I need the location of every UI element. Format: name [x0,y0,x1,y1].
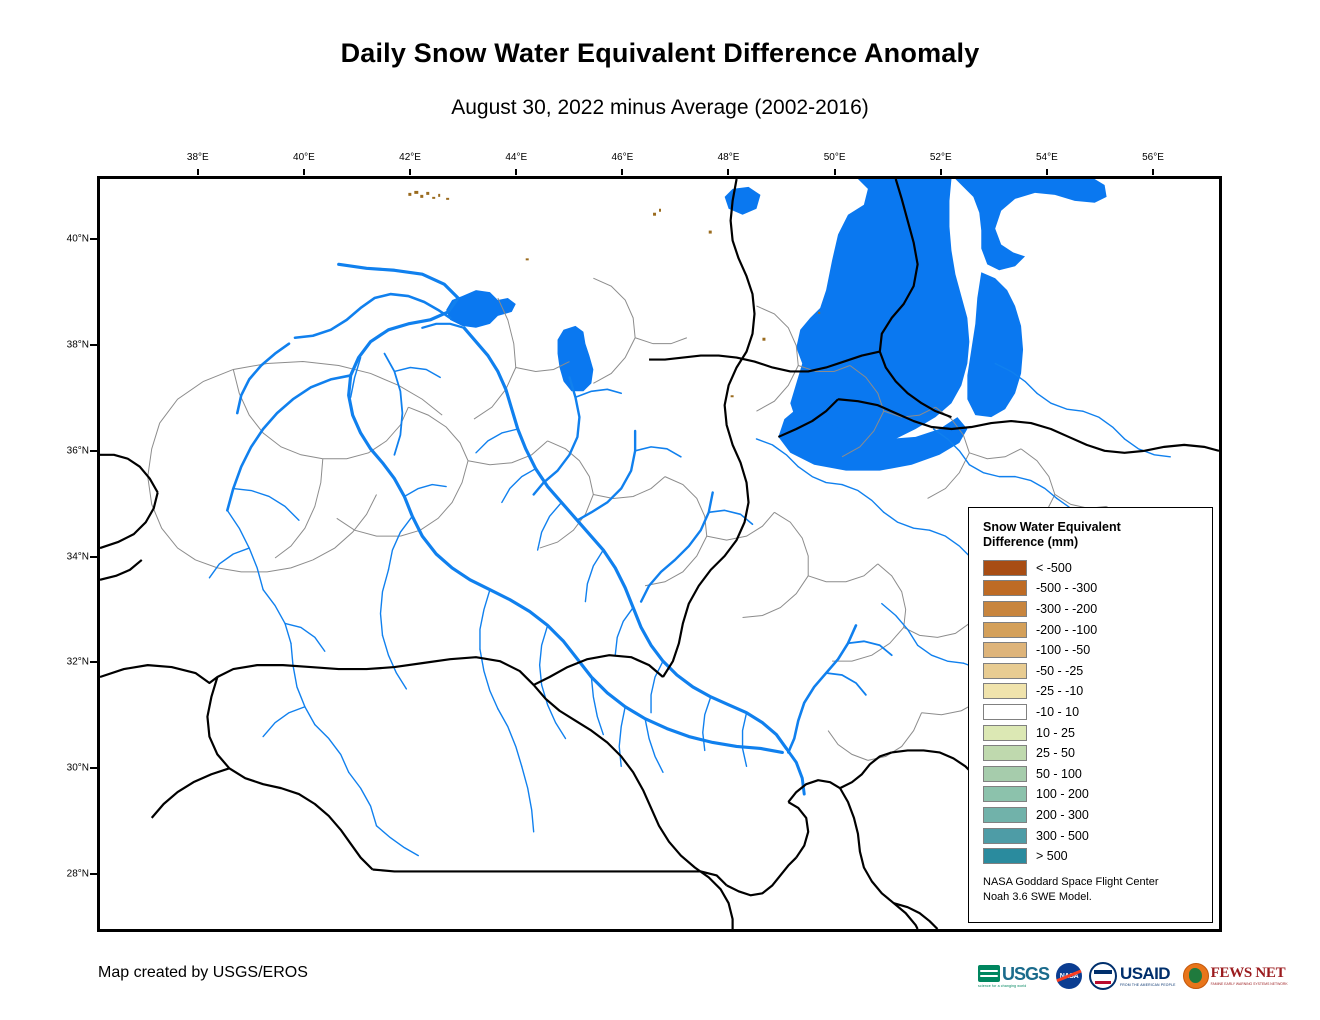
longitude-tick [197,169,199,175]
longitude-label: 46°E [611,152,633,163]
legend-entry-label: -25 - -10 [1036,684,1083,698]
legend-entry-label: -100 - -50 [1036,643,1090,657]
legend-title-line1: Snow Water Equivalent [983,520,1202,535]
nasa-meatball-icon: NASA [1056,963,1082,989]
latitude-tick [90,661,97,663]
latitude-label: 32°N [45,657,89,668]
usaid-tagline: FROM THE AMERICAN PEOPLE [1120,983,1176,987]
legend-color-swatch [983,642,1027,658]
legend-entry-label: 300 - 500 [1036,829,1089,843]
longitude-label: 40°E [293,152,315,163]
longitude-label: 52°E [930,152,952,163]
usgs-tagline: science for a changing world [978,984,1049,988]
legend-entry-label: -50 - -25 [1036,664,1083,678]
longitude-tick [834,169,836,175]
map-legend: Snow Water Equivalent Difference (mm) < … [968,507,1213,923]
longitude-label: 56°E [1142,152,1164,163]
legend-credit: NASA Goddard Space Flight Center Noah 3.… [983,875,1202,904]
legend-entry: 300 - 500 [983,825,1202,846]
legend-entry-label: 200 - 300 [1036,808,1089,822]
longitude-label: 44°E [505,152,527,163]
legend-entry: 200 - 300 [983,805,1202,826]
legend-color-swatch [983,560,1027,576]
usaid-logo[interactable]: USAID FROM THE AMERICAN PEOPLE [1089,959,1176,993]
legend-color-swatch [983,725,1027,741]
legend-entry: -25 - -10 [983,681,1202,702]
legend-color-swatch [983,704,1027,720]
latitude-tick [90,556,97,558]
latitude-label: 28°N [45,868,89,879]
legend-title: Snow Water Equivalent Difference (mm) [983,520,1202,551]
legend-entry-list: < -500-500 - -300-300 - -200-200 - -100-… [983,558,1202,867]
fews-globe-icon [1183,963,1209,989]
longitude-label: 54°E [1036,152,1058,163]
legend-entry: -300 - -200 [983,599,1202,620]
legend-title-line2: Difference (mm) [983,535,1202,550]
longitude-tick [727,169,729,175]
longitude-tick [303,169,305,175]
legend-color-swatch [983,622,1027,638]
legend-entry: 10 - 25 [983,722,1202,743]
legend-color-swatch [983,663,1027,679]
legend-entry: 100 - 200 [983,784,1202,805]
latitude-tick [90,450,97,452]
legend-entry-label: -300 - -200 [1036,602,1097,616]
nasa-logo-text: NASA [1056,963,1082,989]
legend-entry-label: -10 - 10 [1036,705,1079,719]
legend-entry: -50 - -25 [983,660,1202,681]
latitude-tick [90,344,97,346]
legend-entry-label: 100 - 200 [1036,787,1089,801]
longitude-label: 38°E [187,152,209,163]
usaid-logo-text: USAID [1120,965,1176,982]
nasa-logo[interactable]: NASA [1056,959,1082,993]
longitude-tick [1152,169,1154,175]
usaid-seal-icon [1089,962,1117,990]
legend-entry: -10 - 10 [983,702,1202,723]
legend-entry: < -500 [983,558,1202,579]
legend-color-swatch [983,683,1027,699]
latitude-label: 30°N [45,763,89,774]
legend-color-swatch [983,828,1027,844]
latitude-tick [90,767,97,769]
longitude-tick [621,169,623,175]
longitude-tick [1046,169,1048,175]
legend-entry: -200 - -100 [983,619,1202,640]
legend-entry-label: > 500 [1036,849,1068,863]
legend-entry: -500 - -300 [983,578,1202,599]
longitude-label: 42°E [399,152,421,163]
latitude-label: 38°N [45,340,89,351]
legend-credit-line1: NASA Goddard Space Flight Center [983,875,1202,889]
longitude-tick [515,169,517,175]
caspian-sea-waterbody [725,179,1107,471]
lake-urmia-waterbody [558,326,594,391]
latitude-tick [90,238,97,240]
usgs-wave-icon [978,965,1000,982]
longitude-tick [940,169,942,175]
legend-entry-label: < -500 [1036,561,1072,575]
fews-net-logo[interactable]: FEWS NET FAMINE EARLY WARNING SYSTEMS NE… [1183,959,1288,993]
usgs-logo-text: USGS [1002,965,1049,983]
legend-entry-label: 25 - 50 [1036,746,1075,760]
longitude-label: 50°E [824,152,846,163]
legend-entry-label: 50 - 100 [1036,767,1082,781]
legend-color-swatch [983,580,1027,596]
legend-entry: 50 - 100 [983,763,1202,784]
fews-net-logo-text: FEWS NET [1211,966,1288,981]
page-subtitle: August 30, 2022 minus Average (2002-2016… [0,96,1320,120]
fews-net-tagline: FAMINE EARLY WARNING SYSTEMS NETWORK [1211,982,1288,986]
legend-color-swatch [983,848,1027,864]
legend-entry-label: -500 - -300 [1036,581,1097,595]
latitude-label: 36°N [45,445,89,456]
legend-entry-label: 10 - 25 [1036,726,1075,740]
map-author-credit: Map created by USGS/EROS [98,964,308,982]
latitude-label: 40°N [45,234,89,245]
agency-logo-strip: USGS science for a changing world NASA U… [978,957,1288,995]
longitude-label: 48°E [718,152,740,163]
legend-entry-label: -200 - -100 [1036,623,1097,637]
legend-color-swatch [983,745,1027,761]
legend-color-swatch [983,807,1027,823]
longitude-tick [409,169,411,175]
usgs-logo[interactable]: USGS science for a changing world [978,959,1049,993]
page-title: Daily Snow Water Equivalent Difference A… [0,38,1320,69]
legend-color-swatch [983,601,1027,617]
latitude-label: 34°N [45,551,89,562]
legend-entry: 25 - 50 [983,743,1202,764]
legend-color-swatch [983,766,1027,782]
latitude-tick [90,873,97,875]
legend-credit-line2: Noah 3.6 SWE Model. [983,890,1202,904]
legend-entry: -100 - -50 [983,640,1202,661]
legend-entry: > 500 [983,846,1202,867]
legend-color-swatch [983,786,1027,802]
